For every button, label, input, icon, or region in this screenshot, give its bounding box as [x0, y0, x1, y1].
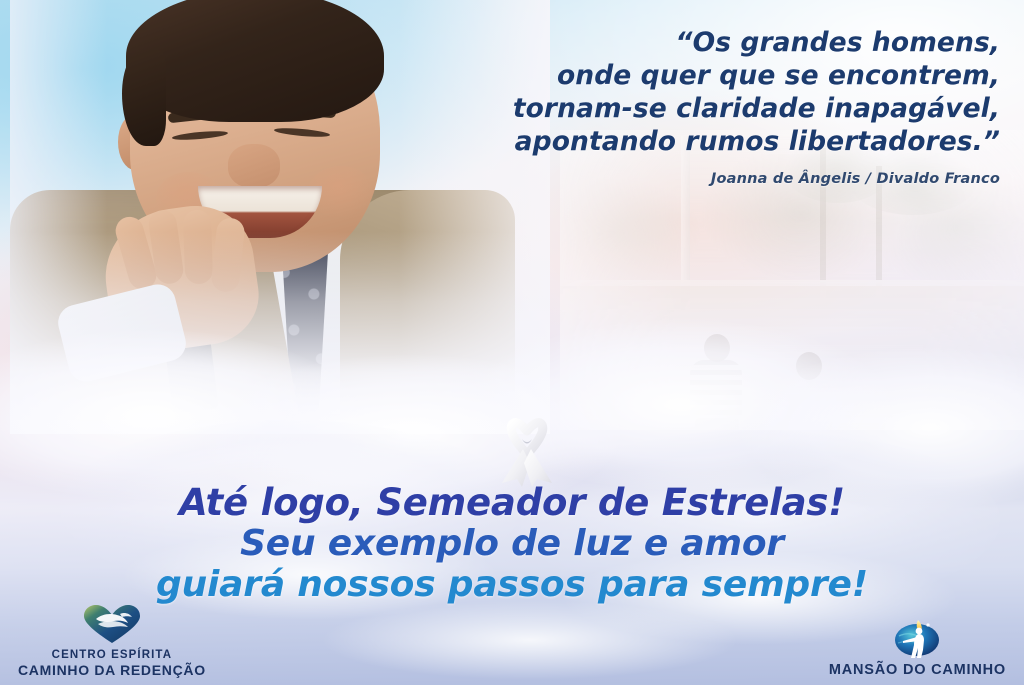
quote-line-2: onde quer que se encontrem, — [380, 59, 1000, 92]
quote-line-4: apontando rumos libertadores.” — [380, 125, 1000, 158]
logo-left-line-2: CAMINHO DA REDENÇÃO — [18, 662, 206, 679]
headline-line-2: Seu exemplo de luz e amor — [0, 526, 1024, 567]
quote-line-3: tornam-se claridade inapagável, — [380, 92, 1000, 125]
quote-block: “Os grandes homens, onde quer que se enc… — [380, 26, 1000, 187]
logo-left-text: CENTRO ESPÍRITA CAMINHO DA REDENÇÃO — [18, 648, 206, 679]
heart-hands-icon — [82, 605, 142, 645]
logo-left-line-1: CENTRO ESPÍRITA — [18, 648, 206, 662]
headline-block: Até logo, Semeador de Estrelas! Seu exem… — [0, 484, 1024, 603]
logo-right-text: MANSÃO DO CAMINHO — [829, 661, 1006, 679]
memorial-poster: “Os grandes homens, onde quer que se enc… — [0, 0, 1024, 685]
mourning-ribbon-icon — [492, 405, 562, 487]
quote-author: Joanna de Ângelis / Divaldo Franco — [380, 171, 1000, 187]
logo-right-name: MANSÃO DO CAMINHO — [829, 661, 1006, 679]
logo-centro-espirita-caminho-da-redencao: CENTRO ESPÍRITA CAMINHO DA REDENÇÃO — [18, 605, 206, 679]
quote-line-1: “Os grandes homens, — [380, 26, 1000, 59]
headline-line-3: guiará nossos passos para sempre! — [0, 567, 1024, 603]
logo-mansao-do-caminho: MANSÃO DO CAMINHO — [829, 614, 1006, 679]
globe-torch-figure-icon — [887, 614, 947, 658]
headline-line-1: Até logo, Semeador de Estrelas! — [0, 484, 1024, 526]
